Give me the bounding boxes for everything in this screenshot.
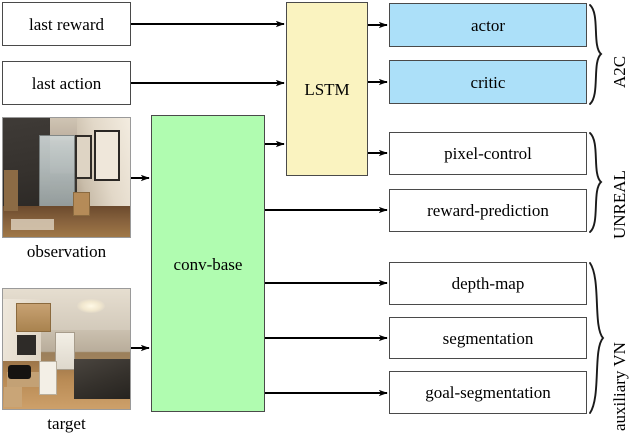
- observation-cardboard-box: [73, 192, 90, 215]
- input-label-last-action: last action: [32, 75, 101, 92]
- module-label-conv-base: conv-base: [174, 256, 243, 273]
- target-chair: [39, 361, 58, 394]
- module-lstm[interactable]: LSTM: [286, 2, 368, 176]
- head-critic[interactable]: critic: [389, 60, 587, 104]
- observation-caption: observation: [2, 243, 131, 260]
- module-label-lstm: LSTM: [304, 81, 349, 98]
- head-label-segmentation: segmentation: [443, 330, 534, 347]
- architecture-diagram: last reward last action observation: [0, 0, 640, 442]
- target-bed: [74, 359, 130, 400]
- target-tv: [17, 335, 36, 355]
- head-label-actor: actor: [471, 17, 505, 34]
- group-label-auxiliary-vn: auxiliary VN: [610, 342, 630, 431]
- target-ceiling-light: [77, 299, 105, 313]
- target-cabinet: [16, 303, 51, 331]
- observation-rug: [11, 219, 54, 230]
- head-label-goal-segmentation: goal-segmentation: [425, 384, 551, 401]
- observation-picture-frame-2: [75, 135, 92, 179]
- target-doorway: [55, 332, 75, 370]
- head-goal-segmentation[interactable]: goal-segmentation: [389, 371, 587, 414]
- input-label-last-reward: last reward: [29, 16, 104, 33]
- head-label-depth-map: depth-map: [452, 275, 525, 292]
- target-caption: target: [2, 415, 131, 432]
- head-depth-map[interactable]: depth-map: [389, 262, 587, 305]
- head-pixel-control[interactable]: pixel-control: [389, 132, 587, 175]
- head-label-reward-prediction: reward-prediction: [427, 202, 549, 219]
- input-box-last-action[interactable]: last action: [2, 61, 131, 105]
- head-label-critic: critic: [471, 74, 506, 91]
- head-reward-prediction[interactable]: reward-prediction: [389, 189, 587, 232]
- input-box-last-reward[interactable]: last reward: [2, 2, 131, 46]
- target-suitcase: [8, 365, 31, 379]
- target-scene: [3, 289, 130, 409]
- head-actor[interactable]: actor: [389, 3, 587, 47]
- group-label-unreal: UNREAL: [610, 170, 630, 239]
- head-label-pixel-control: pixel-control: [444, 145, 532, 162]
- observation-image: [2, 117, 131, 238]
- observation-scene: [3, 118, 130, 237]
- observation-shelf: [4, 170, 18, 210]
- target-box: [4, 387, 22, 406]
- head-segmentation[interactable]: segmentation: [389, 317, 587, 359]
- observation-picture-frame-1: [94, 130, 120, 182]
- module-conv-base[interactable]: conv-base: [151, 115, 265, 412]
- group-label-a2c: A2C: [610, 56, 630, 88]
- observation-glass-door: [39, 135, 75, 211]
- target-image: [2, 288, 131, 410]
